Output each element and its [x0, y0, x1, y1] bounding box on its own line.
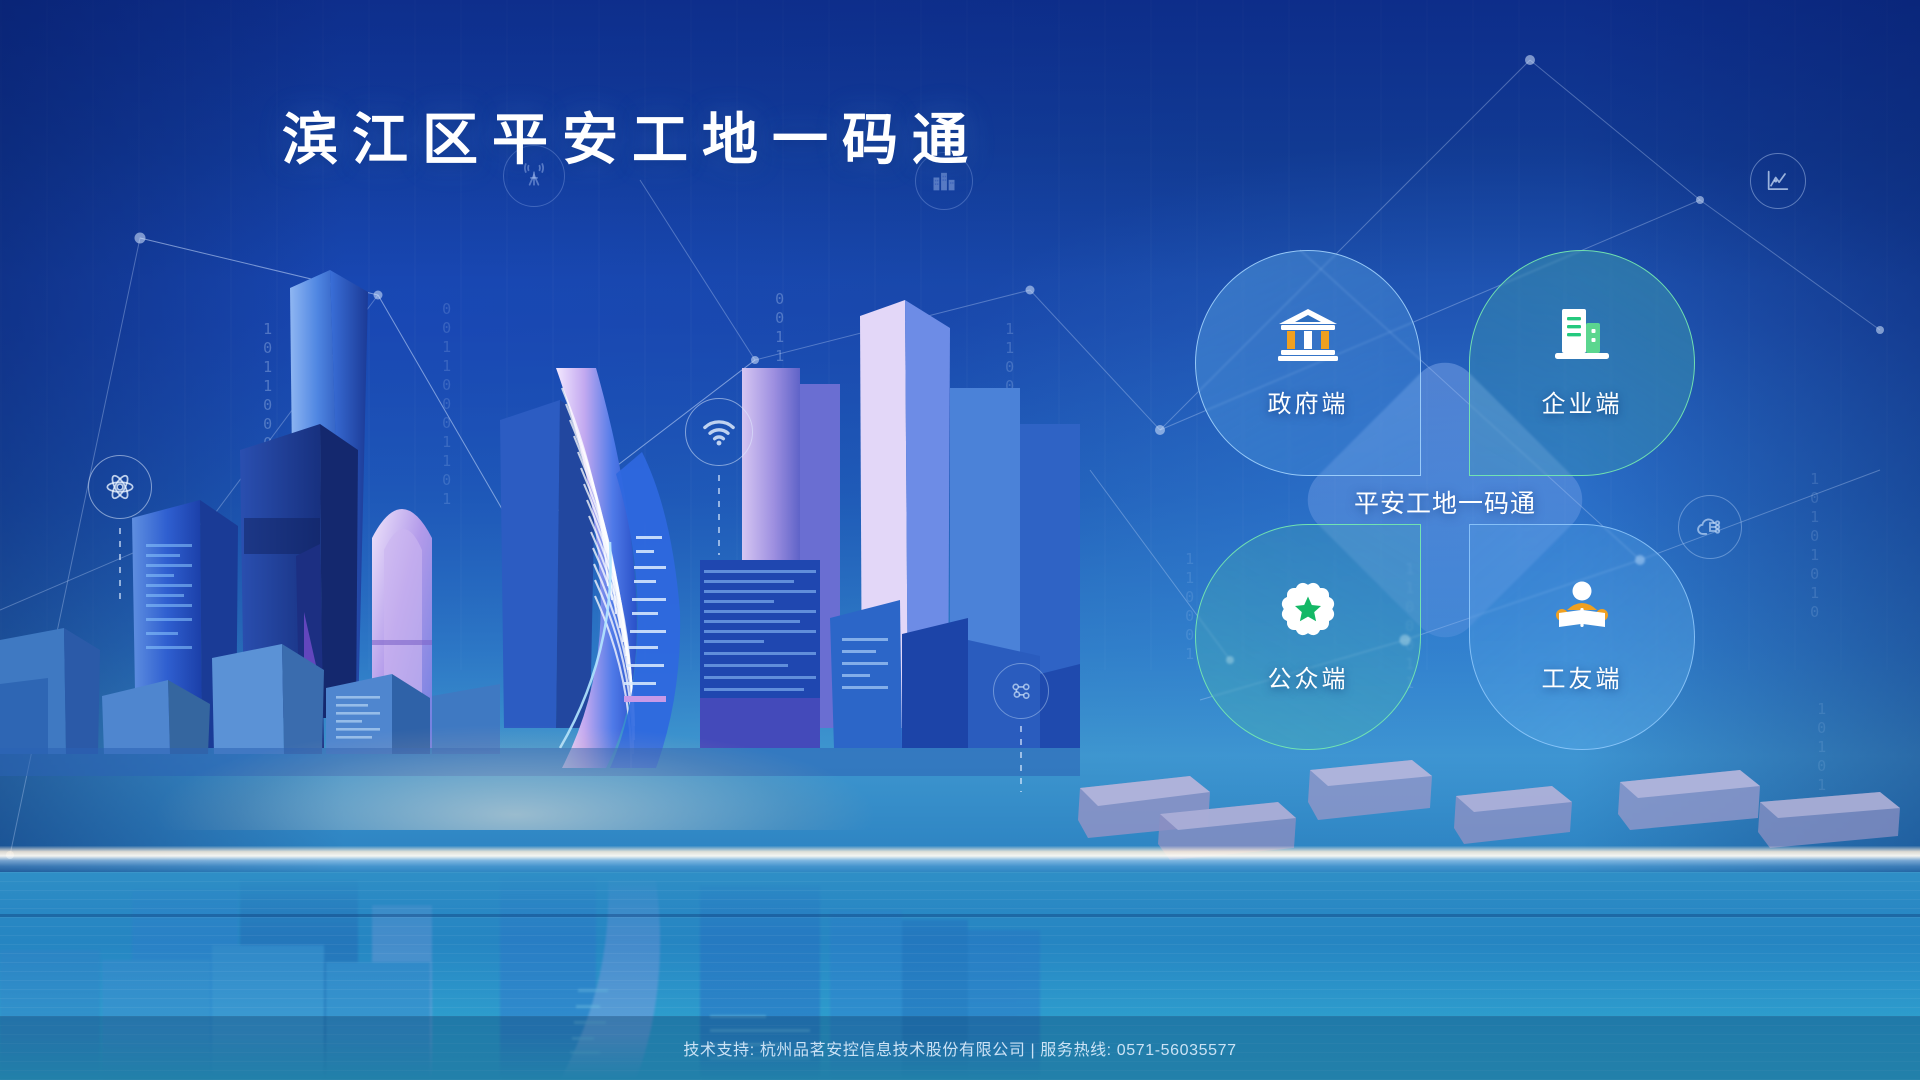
entry-enterprise-label: 企业端 — [1542, 384, 1623, 419]
entry-government-label: 政府端 — [1268, 384, 1349, 419]
wifi-icon — [685, 398, 753, 466]
reading-person-icon — [1551, 580, 1613, 643]
entry-enterprise[interactable]: 企业端 — [1469, 250, 1695, 476]
page-title: 滨江区平安工地一码通 — [282, 95, 982, 176]
city-skyline-illustration — [0, 188, 1080, 808]
bank-icon — [1277, 307, 1339, 368]
entry-public[interactable]: 公众端 — [1195, 524, 1421, 750]
line-chart-icon — [1750, 153, 1806, 209]
node-graph-icon — [993, 663, 1049, 719]
wifi-icon-dotted-line — [718, 475, 720, 555]
entry-points-group: 政府端 — [1195, 250, 1695, 750]
node-graph-dotted-line — [1020, 726, 1022, 792]
entry-worker-label: 工友端 — [1542, 659, 1623, 694]
footer-support-text: 技术支持: 杭州品茗安控信息技术股份有限公司 | 服务热线: 0571-5603… — [683, 1036, 1236, 1060]
entry-worker[interactable]: 工友端 — [1469, 524, 1695, 750]
binary-stream: 10101010 — [1805, 470, 1823, 622]
office-building-icon — [1553, 307, 1611, 368]
water-dark-line — [0, 914, 1920, 917]
splash-screen: 1011000101101 00110001101 0011000110 110… — [0, 0, 1920, 1080]
star-badge-icon — [1279, 580, 1337, 643]
entry-government[interactable]: 政府端 — [1195, 250, 1421, 476]
atom-icon-dotted-line — [119, 528, 121, 602]
atom-icon — [88, 455, 152, 519]
footer-bar: 技术支持: 杭州品茗安控信息技术股份有限公司 | 服务热线: 0571-5603… — [0, 1016, 1920, 1080]
horizon-glow-band — [0, 846, 1920, 872]
entry-public-label: 公众端 — [1268, 659, 1349, 694]
center-label: 平安工地一码通 — [1195, 484, 1695, 520]
